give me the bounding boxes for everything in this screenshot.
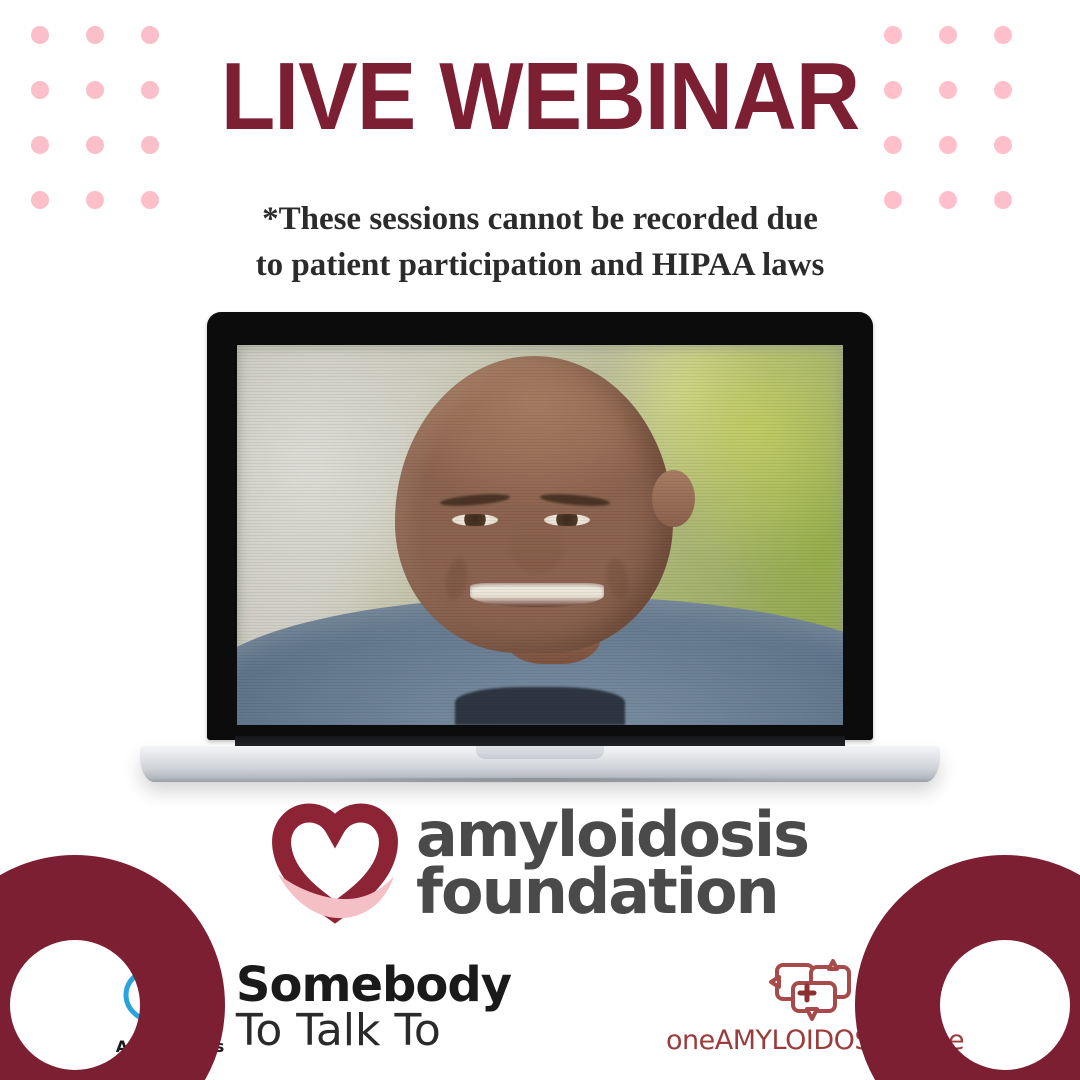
poster-canvas: LIVE WEBINAR *These sessions cannot be r… bbox=[0, 0, 1080, 1080]
laptop-drop-shadow bbox=[178, 778, 902, 794]
laptop-mockup bbox=[140, 312, 940, 792]
decorative-dot bbox=[994, 26, 1012, 44]
decorative-dot bbox=[31, 26, 49, 44]
page-title: LIVE WEBINAR bbox=[38, 48, 1042, 146]
decorative-dot bbox=[884, 26, 902, 44]
photo-grain-overlay bbox=[237, 345, 843, 725]
arc-ring bbox=[855, 855, 1080, 1080]
disclaimer-line-1: *These sessions cannot be recorded due bbox=[0, 196, 1080, 242]
stt-wordmark-line-1: Somebody bbox=[236, 962, 511, 1009]
corner-arc-bottom-left bbox=[0, 855, 225, 1080]
disclaimer-line-2: to patient participation and HIPAA laws bbox=[0, 242, 1080, 288]
overlapping-speech-bubbles-icon bbox=[767, 959, 863, 1021]
stt-wordmark: Somebody To Talk To bbox=[236, 962, 511, 1052]
decorative-dot bbox=[86, 26, 104, 44]
decorative-dot bbox=[939, 26, 957, 44]
laptop-screen bbox=[237, 345, 843, 725]
decorative-dot bbox=[141, 26, 159, 44]
stt-wordmark-line-2: To Talk To bbox=[236, 1009, 511, 1052]
corner-arc-bottom-right bbox=[855, 855, 1080, 1080]
arc-ring bbox=[0, 855, 225, 1080]
amyloidosis-foundation-wordmark: amyloidosis foundation bbox=[416, 806, 808, 920]
laptop-base bbox=[140, 746, 940, 782]
disclaimer-text: *These sessions cannot be recorded due t… bbox=[0, 196, 1080, 288]
speaker-portrait-photo bbox=[237, 345, 843, 725]
heart-in-hand-icon bbox=[272, 800, 400, 926]
laptop-lid bbox=[207, 312, 873, 740]
af-wordmark-line-2: foundation bbox=[416, 863, 808, 920]
